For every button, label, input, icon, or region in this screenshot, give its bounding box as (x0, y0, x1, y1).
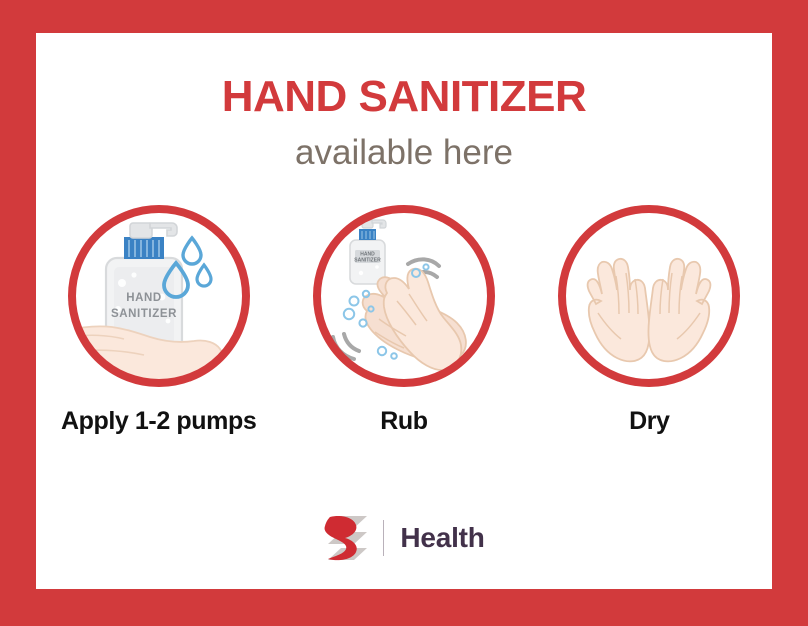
heading-block: HAND SANITIZER available here (36, 75, 772, 170)
brand-name: Health (400, 522, 484, 554)
rubbing-hands-icon: HAND SANITIZER (309, 201, 499, 391)
page-title: HAND SANITIZER (36, 75, 772, 119)
step-apply: HAND SANITIZER (45, 201, 273, 436)
step-rub: HAND SANITIZER (290, 201, 518, 436)
step-rub-label: Rub (380, 407, 427, 436)
footer: Health (36, 513, 772, 563)
logo-divider (383, 520, 384, 556)
svg-text:HAND: HAND (126, 292, 162, 304)
brand-logo: Health (323, 513, 484, 563)
svg-text:SANITIZER: SANITIZER (354, 258, 381, 264)
page-subtitle: available here (36, 135, 772, 170)
svg-text:SANITIZER: SANITIZER (111, 308, 177, 320)
step-dry: Dry (535, 201, 763, 436)
step-rub-illustration: HAND SANITIZER (309, 201, 499, 391)
poster-root: HAND SANITIZER available here (0, 0, 808, 626)
sanitizer-bottle-with-open-hand-icon: HAND SANITIZER (64, 201, 254, 391)
open-palms-drying-icon (554, 201, 744, 391)
s-ribbon-logo-icon (323, 513, 369, 563)
step-dry-illustration (554, 201, 744, 391)
steps-row: HAND SANITIZER (36, 201, 772, 436)
step-apply-illustration: HAND SANITIZER (64, 201, 254, 391)
poster-panel: HAND SANITIZER available here (36, 33, 772, 589)
step-dry-label: Dry (629, 407, 670, 436)
step-apply-label: Apply 1-2 pumps (61, 407, 256, 436)
